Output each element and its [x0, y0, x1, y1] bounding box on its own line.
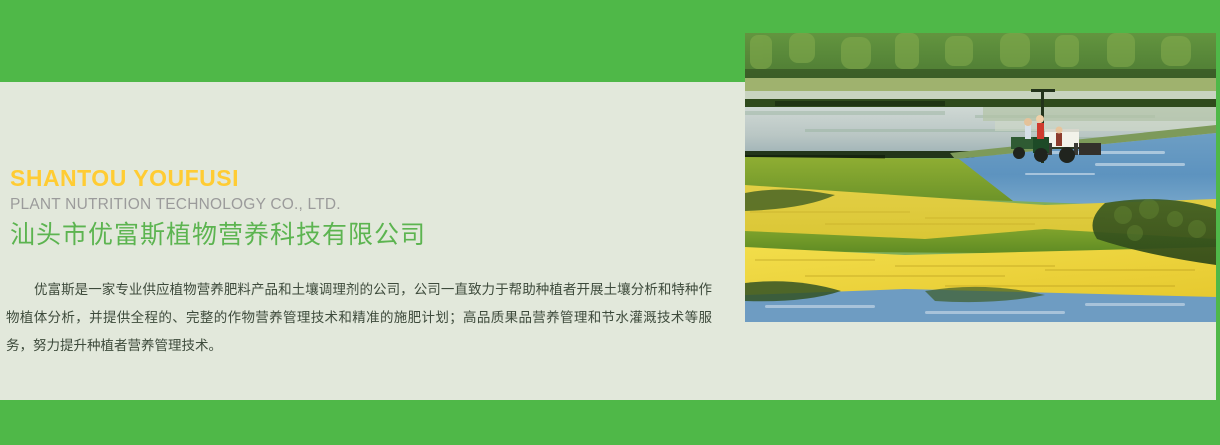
bottom-green-bar: [0, 400, 1220, 445]
company-subtitle-english: PLANT NUTRITION TECHNOLOGY CO., LTD.: [10, 194, 710, 215]
company-name-english: SHANTOU YOUFUSI: [10, 165, 710, 192]
right-green-edge: [1216, 0, 1220, 445]
company-intro-paragraph: 优富斯是一家专业供应植物营养肥料产品和土壤调理剂的公司，公司一直致力于帮助种植者…: [6, 276, 712, 360]
farmland-photo-illustration: [745, 33, 1216, 322]
company-name-chinese: 汕头市优富斯植物营养科技有限公司: [10, 218, 710, 251]
farmland-photo: [745, 33, 1216, 322]
page-root: SHANTOU YOUFUSI PLANT NUTRITION TECHNOLO…: [0, 0, 1220, 445]
brand-block: SHANTOU YOUFUSI PLANT NUTRITION TECHNOLO…: [10, 165, 710, 251]
